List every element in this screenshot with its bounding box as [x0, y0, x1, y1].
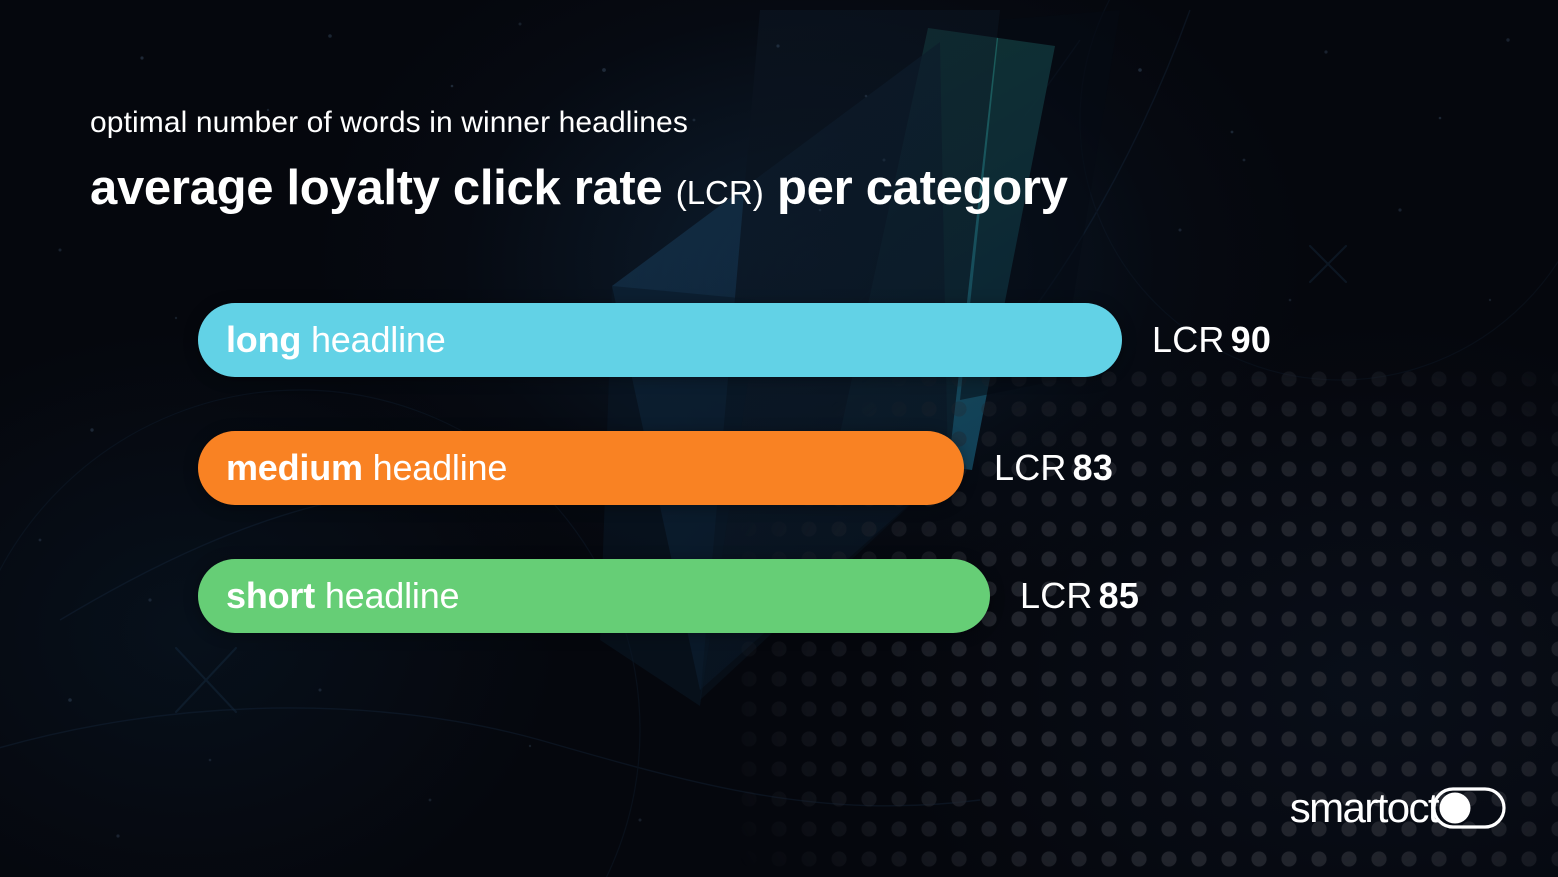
bar-category-bold: short — [226, 575, 315, 616]
bar-category-suffix: headline — [315, 575, 459, 616]
subtitle: optimal number of words in winner headli… — [90, 108, 1068, 138]
bar-category-suffix: headline — [363, 447, 507, 488]
page-title: average loyalty click rate (LCR) per cat… — [90, 164, 1068, 213]
value-label: LCR85 — [1020, 575, 1139, 617]
bar-label: medium headline — [226, 447, 507, 489]
bar-row: short headline LCR85 — [198, 559, 1271, 633]
bar-row: long headline LCR90 — [198, 303, 1271, 377]
value-label-key: LCR — [1020, 575, 1093, 616]
title-part-before: average loyalty click rate — [90, 161, 676, 215]
bar-chart: long headline LCR90 medium headline LCR8… — [198, 303, 1271, 687]
value-label: LCR90 — [1152, 319, 1271, 361]
infographic-canvas: optimal number of words in winner headli… — [0, 0, 1558, 877]
title-abbreviation: (LCR) — [676, 174, 764, 211]
brand-logo[interactable]: smartoct — [1290, 787, 1506, 829]
toggle-switch-icon — [1432, 787, 1506, 829]
bar-label: long headline — [226, 319, 446, 361]
bar-row: medium headline LCR83 — [198, 431, 1271, 505]
brand-logo-text: smartoct — [1290, 787, 1438, 829]
bar-category-bold: medium — [226, 447, 363, 488]
value-label-key: LCR — [994, 447, 1067, 488]
bar-medium-headline[interactable]: medium headline — [198, 431, 964, 505]
value-label-number: 85 — [1099, 575, 1139, 616]
bar-label: short headline — [226, 575, 459, 617]
bar-category-suffix: headline — [301, 319, 445, 360]
value-label-key: LCR — [1152, 319, 1225, 360]
bar-short-headline[interactable]: short headline — [198, 559, 990, 633]
value-label-number: 90 — [1231, 319, 1271, 360]
heading-block: optimal number of words in winner headli… — [90, 108, 1068, 213]
value-label: LCR83 — [994, 447, 1113, 489]
value-label-number: 83 — [1073, 447, 1113, 488]
bar-category-bold: long — [226, 319, 301, 360]
bar-long-headline[interactable]: long headline — [198, 303, 1122, 377]
title-part-after: per category — [764, 161, 1068, 215]
